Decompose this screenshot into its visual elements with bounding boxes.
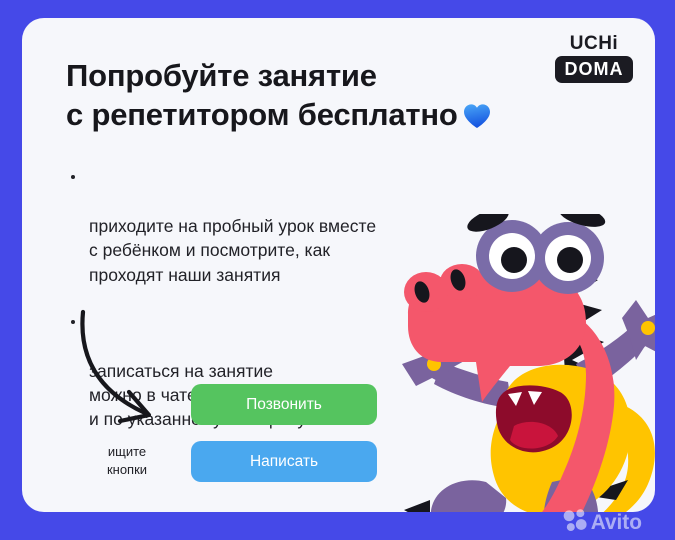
list-item-text: приходите на пробный урок вместе с ребён…: [89, 216, 376, 284]
bullet-dot-icon: [71, 320, 75, 324]
bullet-dot-icon: [71, 175, 75, 179]
list-item: приходите на пробный урок вместе с ребён…: [67, 166, 477, 287]
page-title: Попробуйте занятие с репетитором бесплат…: [66, 56, 536, 134]
blue-heart-icon: [463, 103, 491, 129]
call-button[interactable]: Позвонить: [191, 384, 377, 425]
uchi-doma-logo: UCHi DOMA: [555, 34, 633, 83]
curved-arrow-icon: [77, 308, 197, 433]
logo-wordmark-top: UCHi: [555, 34, 633, 53]
write-button[interactable]: Написать: [191, 441, 377, 482]
hint-label: ищите кнопки: [72, 443, 182, 478]
promo-card: UCHi DOMA Попробуйте занятие с репетитор…: [22, 18, 655, 512]
ad-banner: UCHi DOMA Попробуйте занятие с репетитор…: [0, 0, 675, 540]
avito-watermark-label: Avito: [591, 511, 642, 534]
logo-wordmark-bottom: DOMA: [555, 56, 633, 83]
headline-line-2: с репетитором бесплатно: [66, 97, 458, 132]
headline-line-1: Попробуйте занятие: [66, 58, 377, 93]
